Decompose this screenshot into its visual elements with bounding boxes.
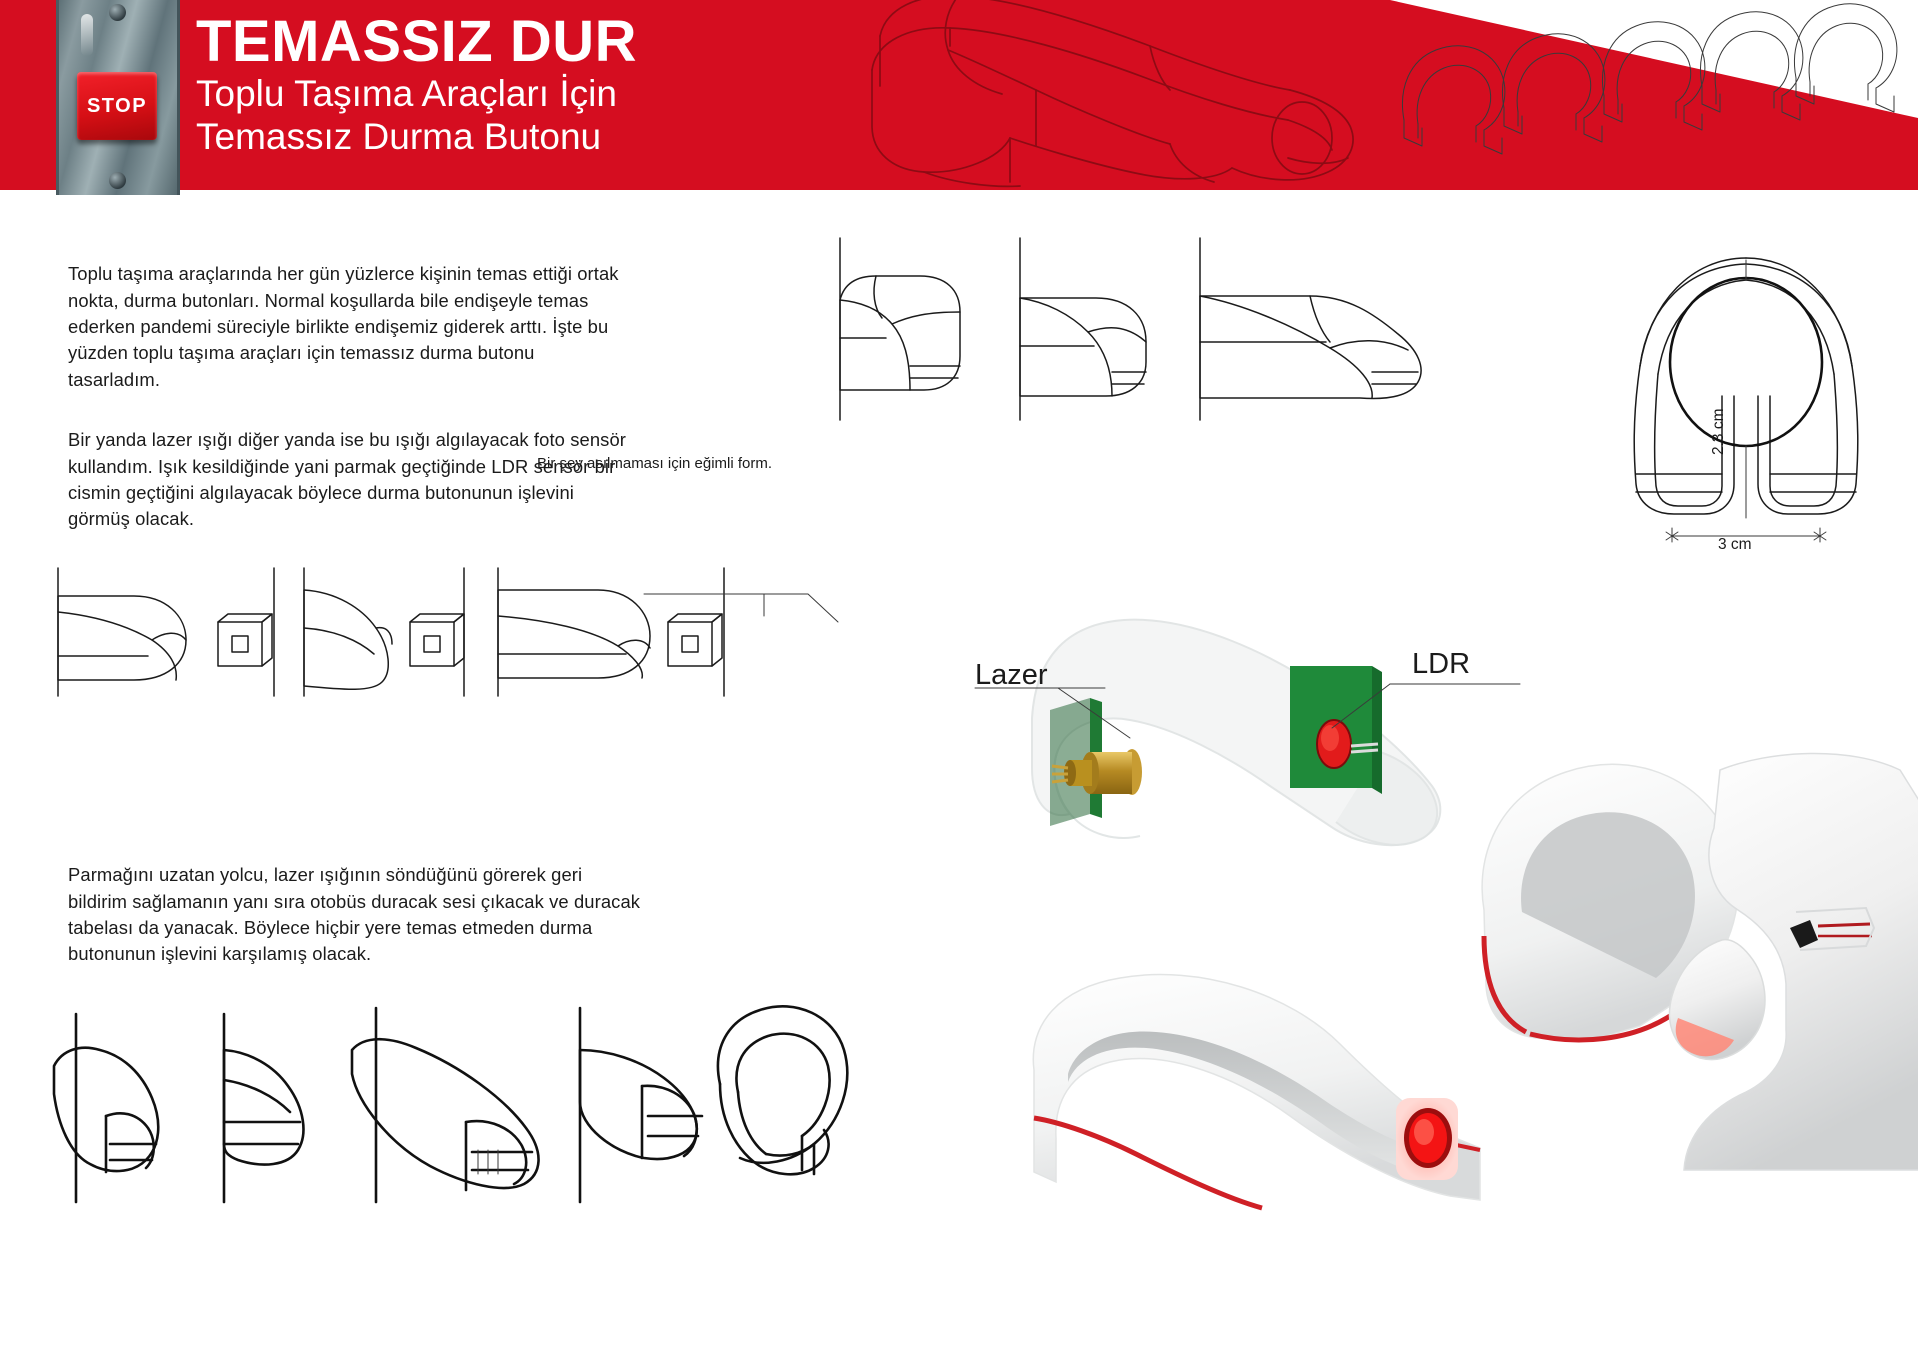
sketch-row-bottom-views <box>32 994 772 1224</box>
sketch-row-wall-mount <box>800 238 1520 428</box>
paragraph-solution: Bir yanda lazer ışığı diğer yanda ise bu… <box>68 427 628 532</box>
sketch-row-side-profiles <box>48 568 928 728</box>
callout-slanted-form: Bir şey asılmaması için eğimli form. <box>537 455 772 472</box>
header-banner: STOP TEMASSIZ DUR Toplu Taşıma Araçları … <box>0 0 1918 215</box>
stop-button-photo: STOP <box>56 0 180 195</box>
render-ring-with-button <box>1010 950 1550 1290</box>
render-internals-cutaway <box>940 600 1520 880</box>
stop-button-label: STOP <box>87 95 147 118</box>
dimension-label-horizontal: 3 cm <box>1718 536 1752 554</box>
dimension-drawing <box>1596 246 1916 546</box>
stop-button: STOP <box>77 72 157 140</box>
dimension-label-vertical: 2.3 cm <box>1710 408 1728 455</box>
page-subtitle-line-1: Toplu Taşıma Araçları İçin <box>196 73 637 116</box>
page-title: TEMASSIZ DUR <box>196 12 637 71</box>
screw-icon <box>109 4 126 21</box>
paragraph-problem: Toplu taşıma araçlarında her gün yüzlerc… <box>68 261 628 393</box>
label-lazer: Lazer <box>975 659 1048 692</box>
screw-icon <box>109 172 126 189</box>
paragraph-feedback: Parmağını uzatan yolcu, lazer ışığının s… <box>68 862 643 967</box>
header-text-block: TEMASSIZ DUR Toplu Taşıma Araçları İçin … <box>196 12 637 159</box>
render-hand-interaction <box>1470 740 1918 1170</box>
photo-gloss-highlight <box>81 14 93 56</box>
label-ldr: LDR <box>1412 648 1470 681</box>
page-subtitle-line-2: Temassız Durma Butonu <box>196 116 637 159</box>
